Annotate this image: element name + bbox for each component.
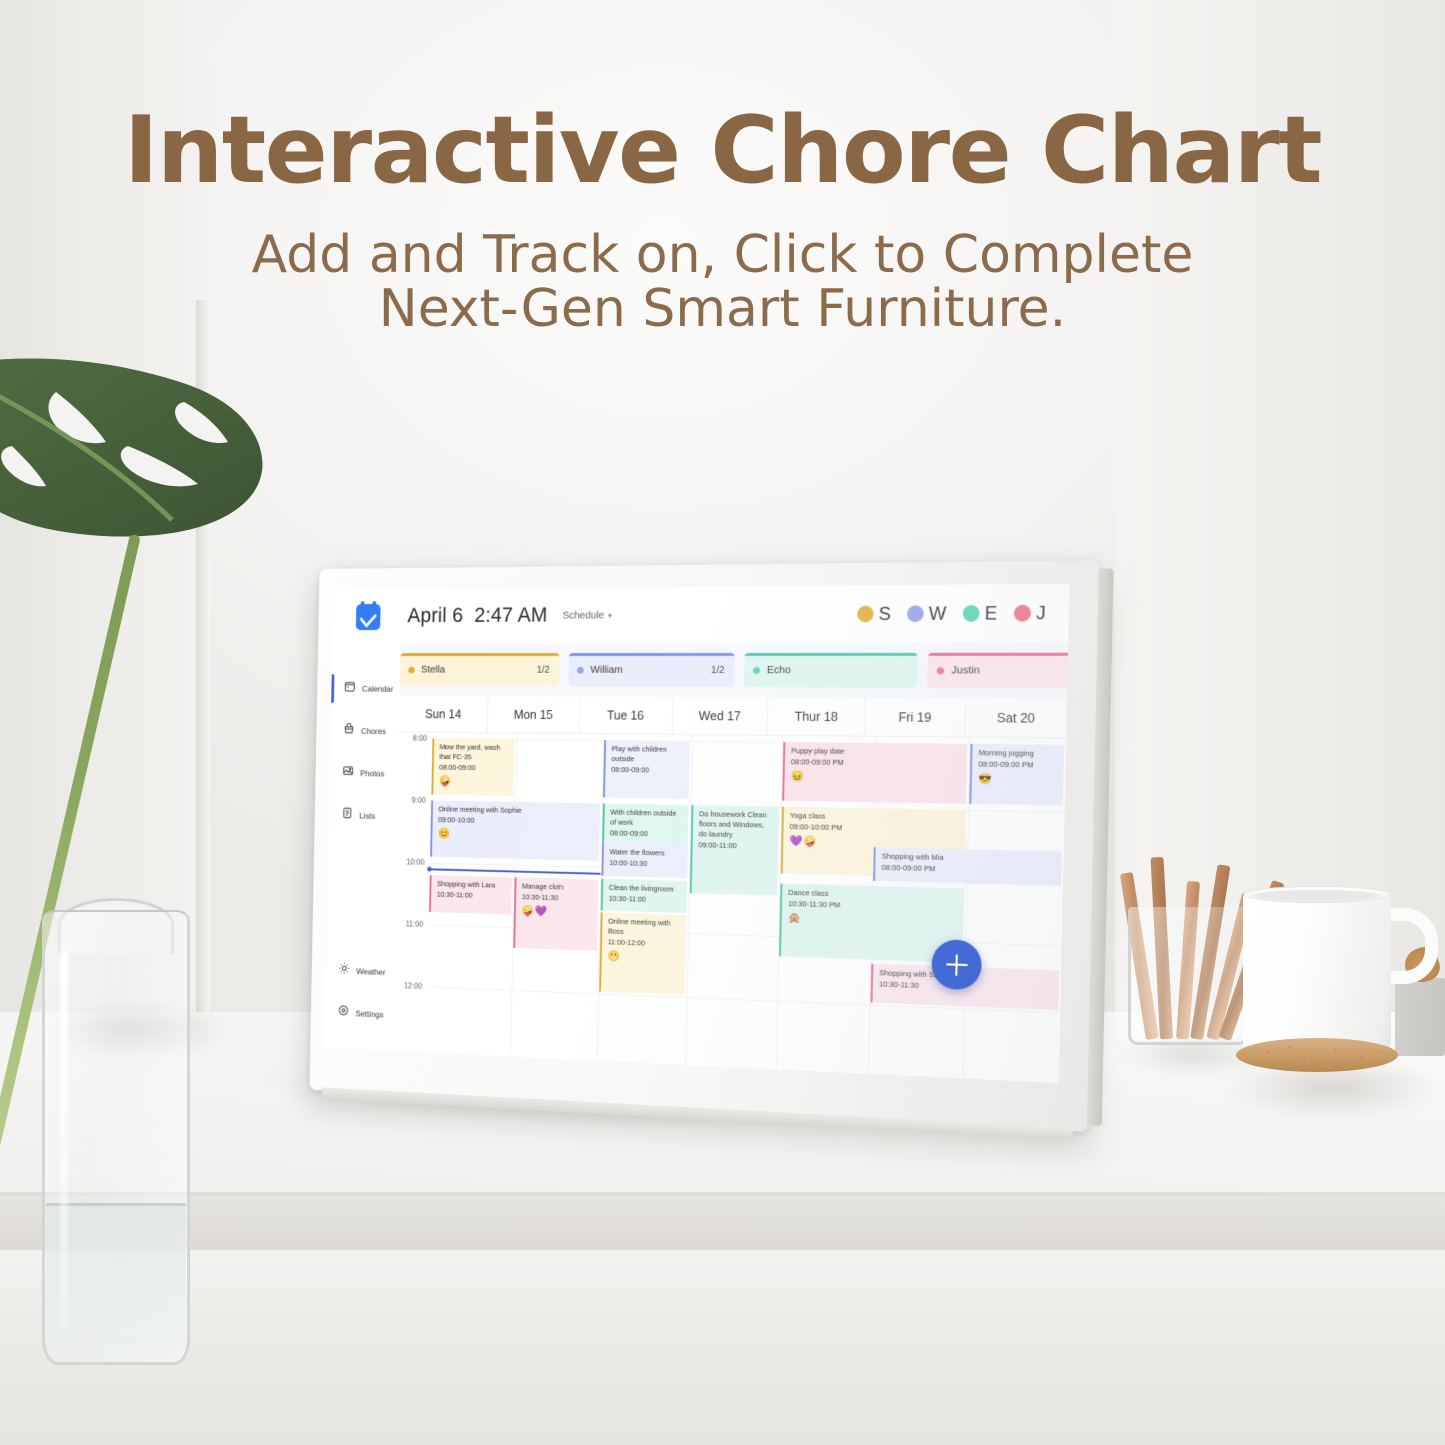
time-label-4: 12:00 <box>404 981 422 990</box>
header-datetime: April 6 2:47 AM <box>407 604 547 628</box>
sidebar-item-label: Photos <box>360 768 384 778</box>
event-time: 08:00-09:00 <box>610 828 683 839</box>
shelf-front-face <box>0 1196 1445 1256</box>
calendar-event[interactable]: Yoga class09:00-10:00 PM💜🤪 <box>781 807 966 878</box>
grid-column-line <box>962 738 970 1079</box>
event-title: Shopping with Lara <box>437 879 507 891</box>
smart-display-device: April 6 2:47 AM Schedule ▾ SWEJ Stella1/… <box>309 560 1100 1132</box>
event-time: 09:00-10:00 <box>438 815 595 828</box>
calendar-event[interactable]: Mow the yard, wash that FC-3508:00-09:00… <box>431 738 514 796</box>
avatar-dot <box>963 605 980 622</box>
monstera-leaf-icon <box>0 350 270 565</box>
grid-column-line <box>776 736 784 1070</box>
sidebar-item-label: Lists <box>359 811 375 821</box>
app-header: April 6 2:47 AM Schedule ▾ SWEJ <box>332 584 1069 644</box>
sidebar-item-label: Settings <box>355 1009 383 1020</box>
member-card-accent-bar <box>400 653 559 656</box>
list-icon <box>341 807 353 824</box>
event-title: Manage cloth <box>522 882 594 894</box>
member-card-echo[interactable]: Echo <box>744 653 918 688</box>
pencil-jar <box>1128 845 1248 1045</box>
sidebar-item-label: Calendar <box>362 684 394 694</box>
event-time: 08:00-09:00 <box>439 763 509 774</box>
gear-icon <box>337 1004 349 1022</box>
calendar-event[interactable]: Shopping with Lara10:30-11:00 <box>429 875 512 914</box>
member-cards-strip: Stella1/2William1/2EchoJustin <box>331 642 1068 698</box>
member-dot <box>577 666 584 673</box>
mug-inner <box>1254 890 1380 901</box>
plus-icon-vertical <box>955 954 958 976</box>
sidebar-item-chores[interactable]: Chores <box>330 714 399 747</box>
calendar-icon <box>344 680 356 697</box>
grey-box-prop <box>1395 978 1445 1056</box>
day-header-2[interactable]: Tue 16 <box>579 696 673 733</box>
cork-texture <box>1236 1038 1398 1072</box>
sidebar-item-lists[interactable]: Lists <box>329 799 398 833</box>
calendar-event[interactable]: Online meeting with Boss11:00-12:00😬 <box>599 912 686 995</box>
member-dot <box>753 667 760 674</box>
headline: Interactive Chore Chart <box>0 96 1445 204</box>
member-name: William <box>590 664 623 676</box>
event-time: 08:00-09:00 PM <box>881 863 1056 878</box>
shelf-underside <box>0 1250 1445 1445</box>
member-card-accent-bar <box>569 653 735 656</box>
time-label-2: 10:00 <box>406 858 424 867</box>
time-label-0: 8:00 <box>413 734 427 743</box>
event-time: 10:30-11:30 <box>522 892 594 904</box>
avatar-chip-echo[interactable]: E <box>963 602 998 624</box>
avatar-chip-stella[interactable]: S <box>857 603 891 625</box>
member-progress-count: 1/2 <box>537 664 550 675</box>
avatar-initial: W <box>929 603 947 625</box>
sidebar-item-label: Weather <box>356 966 385 977</box>
event-title: Shopping with Stella <box>879 968 1054 985</box>
event-time: 10:00-10:30 <box>609 858 682 870</box>
calendar-event[interactable]: Shopping with Stella10:30-11:30 <box>871 964 1060 1010</box>
event-time: 10:30-11:00 <box>609 894 682 906</box>
member-card-accent-bar <box>928 653 1070 656</box>
member-name: Justin <box>951 664 980 676</box>
white-mug <box>1243 892 1391 1052</box>
calendar-event[interactable]: Online meeting with Sophie09:00-10:00😊 <box>430 800 600 860</box>
day-header-0[interactable]: Sun 14 <box>399 696 489 733</box>
event-title: Play with children outside <box>611 744 685 765</box>
event-emoji-reaction[interactable]: 😖 <box>790 769 961 786</box>
day-header-6[interactable]: Sat 20 <box>965 698 1067 737</box>
event-title: Clean the livingroom <box>609 883 682 895</box>
avatar-dot <box>907 605 924 622</box>
member-card-william[interactable]: William1/2 <box>568 653 734 687</box>
avatar-chip-justin[interactable]: J <box>1014 602 1046 624</box>
avatar-initial: S <box>878 603 891 625</box>
avatar-dot <box>857 606 874 622</box>
monstera-plant <box>0 350 300 1050</box>
event-time: 10:30-11:30 PM <box>788 899 959 914</box>
event-canvas[interactable]: Mow the yard, wash that FC-3508:00-09:00… <box>425 733 1066 1084</box>
event-time: 10:30-11:00 <box>437 890 507 902</box>
add-event-fab[interactable] <box>931 939 982 990</box>
member-name: Echo <box>767 664 791 676</box>
event-title: Morning jogging <box>979 748 1059 759</box>
event-title: Water the flowers <box>609 847 682 859</box>
avatar-initial: J <box>1036 602 1046 624</box>
calendar-event[interactable]: Morning jogging08:00-09:00 PM😎 <box>969 744 1064 806</box>
grid-hour-line <box>427 986 1061 1013</box>
photo-icon <box>342 764 354 781</box>
calendar-event[interactable]: Dance class10:30-11:30 PM🙊 <box>779 884 964 963</box>
calendar-event[interactable]: Water the flowers10:00-10:30 <box>601 843 687 878</box>
pencil-jar-glass <box>1128 907 1248 1045</box>
event-title: Dance class <box>788 888 959 903</box>
grid-column-line <box>868 737 876 1074</box>
grid-column-line <box>685 735 693 1065</box>
day-header-3[interactable]: Wed 17 <box>672 697 768 735</box>
event-emoji-reaction[interactable]: 😊 <box>438 827 595 844</box>
calendar-event[interactable]: Play with children outside08:00-09:00 <box>603 740 690 799</box>
vase-highlight <box>60 950 68 1330</box>
event-time: 08:00-09:00 PM <box>791 757 962 769</box>
sidebar-item-settings[interactable]: Settings <box>325 996 394 1032</box>
event-emoji-reaction[interactable]: 💜🤪 <box>789 834 960 852</box>
avatar-chip-william[interactable]: W <box>907 603 947 625</box>
calendar-app-screen: April 6 2:47 AM Schedule ▾ SWEJ Stella1/… <box>324 584 1069 1084</box>
day-header-1[interactable]: Mon 15 <box>488 696 580 733</box>
calendar-event[interactable]: Clean the livingroom10:30-11:00 <box>601 879 687 913</box>
current-time-dot <box>427 867 432 872</box>
member-card-stella[interactable]: Stella1/2 <box>400 653 560 686</box>
event-time: 09:00-10:00 PM <box>789 822 960 836</box>
event-emoji-reaction[interactable]: 🙊 <box>788 911 959 931</box>
event-title: Online meeting with Boss <box>608 917 682 939</box>
subheadline: Add and Track on, Click to Complete Next… <box>0 228 1445 336</box>
avatar-initial: E <box>984 602 997 624</box>
avatar-dot <box>1014 605 1031 622</box>
basket-icon <box>343 722 355 739</box>
sun-icon <box>338 962 350 980</box>
subheadline-line-2: Next-Gen Smart Furniture. <box>0 282 1445 336</box>
event-title: Puppy play date <box>791 746 962 758</box>
header-time: 2:47 AM <box>474 604 548 627</box>
subheadline-line-1: Add and Track on, Click to Complete <box>0 228 1445 282</box>
event-emoji-reaction[interactable]: 😬 <box>607 949 680 966</box>
calendar-event[interactable]: Shopping with Mia08:00-09:00 PM <box>873 847 1062 886</box>
event-title: Yoga class <box>790 811 961 824</box>
member-name: Stella <box>421 664 445 676</box>
calendar-check-icon[interactable] <box>356 604 381 630</box>
sidebar-item-calendar[interactable]: Calendar <box>331 672 400 705</box>
week-grid: Sun 14Mon 15Tue 16Wed 17Thur 18Fri 19Sat… <box>393 696 1068 1084</box>
sidebar-item-photos[interactable]: Photos <box>329 757 398 791</box>
event-emoji-reaction[interactable]: 🤪 <box>439 774 509 789</box>
event-time: 08:00-09:00 <box>611 765 684 776</box>
member-dot <box>408 666 414 673</box>
event-time: 09:00-11:00 <box>698 840 773 852</box>
time-label-3: 11:00 <box>406 919 424 928</box>
calendar-event[interactable]: Manage cloth10:30-11:30🤪💜 <box>513 877 598 950</box>
event-time: 08:00-09:00 PM <box>978 759 1058 770</box>
view-selector-label: Schedule <box>562 609 604 621</box>
event-emoji-reaction[interactable]: 🤪💜 <box>521 904 593 920</box>
member-avatars: SWEJ <box>857 602 1046 625</box>
event-emoji-reaction[interactable]: 😎 <box>978 772 1058 788</box>
chevron-down-icon: ▾ <box>608 611 612 620</box>
event-time: 10:30-11:30 <box>879 979 1054 996</box>
day-header-row: Sun 14Mon 15Tue 16Wed 17Thur 18Fri 19Sat… <box>399 696 1067 739</box>
member-card-accent-bar <box>745 653 918 656</box>
sidebar-nav: CalendarChoresPhotosListsWeatherSettings <box>324 643 400 1050</box>
sidebar-item-weather[interactable]: Weather <box>326 954 395 989</box>
event-title: Mow the yard, wash that FC-35 <box>439 742 510 762</box>
event-title: Shopping with Mia <box>882 851 1057 865</box>
event-title: With children outside of work <box>610 808 684 829</box>
member-dot <box>937 667 944 674</box>
time-label-1: 9:00 <box>411 796 425 805</box>
event-title: Do housework Clean floors and Windows, d… <box>699 809 774 841</box>
plus-icon <box>946 963 968 966</box>
view-selector[interactable]: Schedule ▾ <box>562 609 611 621</box>
member-card-justin[interactable]: Justin <box>927 653 1069 689</box>
sidebar-item-label: Chores <box>361 726 386 736</box>
header-date: April 6 <box>407 604 463 627</box>
day-header-5[interactable]: Fri 19 <box>865 698 966 737</box>
calendar-event[interactable]: Do housework Clean floors and Windows, d… <box>690 805 779 895</box>
member-progress-count: 1/2 <box>711 664 725 675</box>
grid-hour-line <box>432 738 1067 745</box>
day-header-4[interactable]: Thur 18 <box>768 697 866 735</box>
event-time: 11:00-12:00 <box>608 937 681 949</box>
